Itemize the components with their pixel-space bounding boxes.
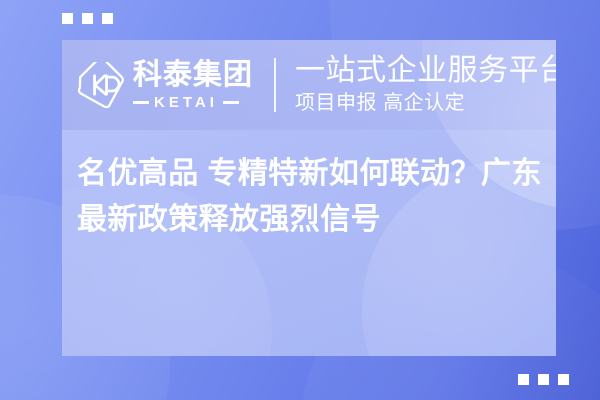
decorative-square-icon xyxy=(538,374,549,385)
tagline-secondary: 项目申报 高企认定 xyxy=(295,91,556,115)
logo-english-row: KETAI xyxy=(133,95,253,110)
poster-canvas: 科泰集团 KETAI 一站式企业服务平台 项目申报 高企认定 名优高品 专精特新… xyxy=(0,0,600,400)
logo-rule-left-icon xyxy=(133,101,149,104)
page-title: 名优高品 专精特新如何联动？广东最新政策释放强烈信号 xyxy=(77,151,547,242)
ketai-monogram-icon xyxy=(78,62,124,108)
brand-logo: 科泰集团 KETAI xyxy=(78,61,253,110)
logo-chinese-name: 科泰集团 xyxy=(133,61,253,90)
logo-english-name: KETAI xyxy=(154,95,218,110)
brand-banner: 科泰集团 KETAI 一站式企业服务平台 项目申报 高企认定 xyxy=(62,40,556,130)
logo-rule-right-icon xyxy=(223,101,239,104)
logo-wordmark: 科泰集团 KETAI xyxy=(133,61,253,110)
decorative-square-icon xyxy=(82,13,93,24)
brand-tagline: 一站式企业服务平台 项目申报 高企认定 xyxy=(295,55,556,115)
decorative-square-icon xyxy=(518,374,529,385)
decorative-square-icon xyxy=(102,13,113,24)
decorative-square-icon xyxy=(558,374,569,385)
decorative-square-icon xyxy=(62,13,73,24)
tagline-primary: 一站式企业服务平台 xyxy=(295,55,556,87)
decorative-squares-top-left xyxy=(62,13,113,24)
vertical-divider-icon xyxy=(274,58,276,112)
decorative-squares-bottom-right xyxy=(518,374,569,385)
content-card: 科泰集团 KETAI 一站式企业服务平台 项目申报 高企认定 名优高品 专精特新… xyxy=(62,40,556,356)
